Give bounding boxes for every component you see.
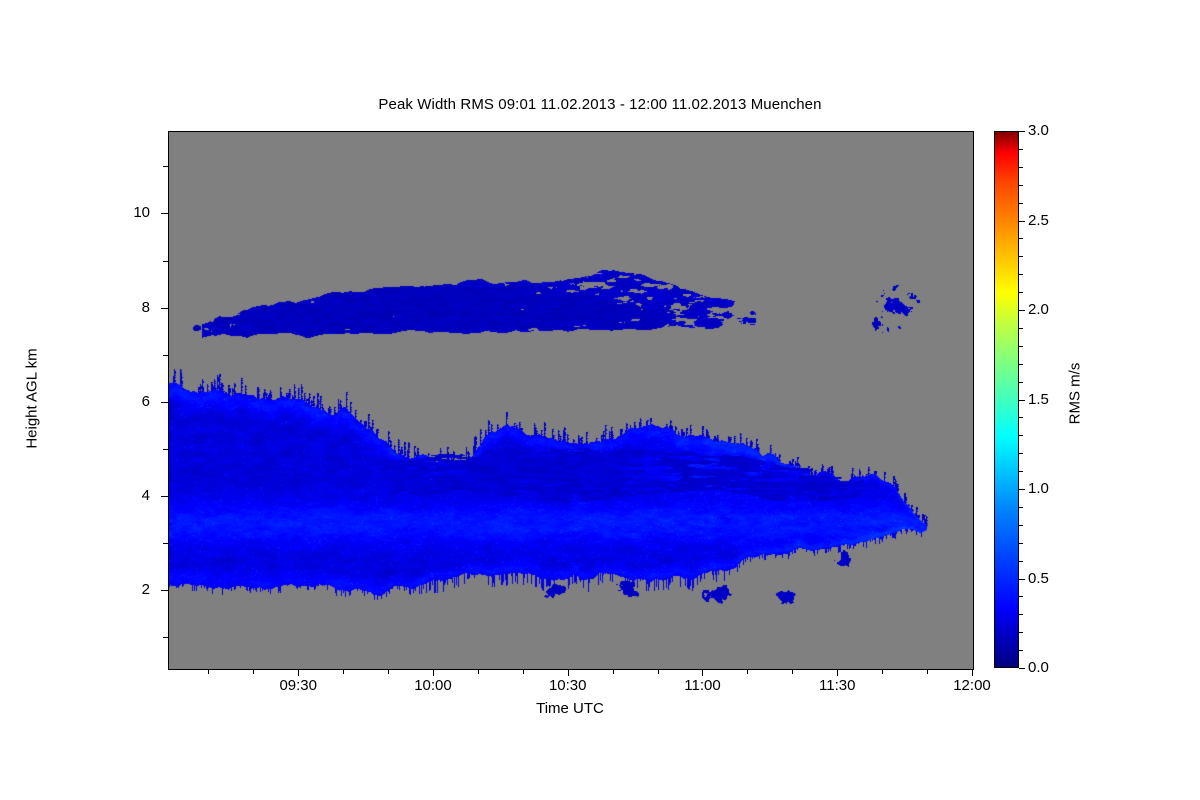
- y-tick: [161, 308, 168, 309]
- colorbar-tick-label: 0.5: [1028, 571, 1049, 586]
- colorbar-tick-minor: [1019, 543, 1023, 544]
- colorbar-tick-minor: [1019, 650, 1023, 651]
- colorbar-tick-label: 2.0: [1028, 302, 1049, 317]
- colorbar-gradient: [994, 131, 1019, 668]
- y-tick-minor: [163, 166, 168, 167]
- colorbar-tick-minor: [1019, 614, 1023, 615]
- x-tick-minor: [792, 669, 793, 674]
- y-tick-label: 4: [96, 488, 150, 503]
- x-tick-label: 11:00: [657, 678, 747, 693]
- x-tick-label: 11:30: [792, 678, 882, 693]
- colorbar-tick-minor: [1019, 525, 1023, 526]
- colorbar-tick-minor: [1019, 185, 1023, 186]
- x-tick-minor: [523, 669, 524, 674]
- y-tick-minor: [163, 449, 168, 450]
- y-tick-minor: [163, 261, 168, 262]
- y-tick-label: 10: [96, 205, 150, 220]
- y-tick-minor: [163, 637, 168, 638]
- colorbar-tick-minor: [1019, 561, 1023, 562]
- heatmap-canvas: [169, 132, 973, 669]
- y-tick-minor: [163, 543, 168, 544]
- x-tick: [972, 669, 973, 676]
- plot-area: [168, 131, 974, 670]
- colorbar-tick-minor: [1019, 435, 1023, 436]
- colorbar-tick-minor: [1019, 256, 1023, 257]
- colorbar-tick: [1019, 579, 1025, 580]
- x-tick: [568, 669, 569, 676]
- x-tick: [837, 669, 838, 676]
- colorbar-tick: [1019, 310, 1025, 311]
- x-tick-minor: [478, 669, 479, 674]
- colorbar-tick: [1019, 131, 1025, 132]
- colorbar-tick-minor: [1019, 203, 1023, 204]
- colorbar: [994, 131, 1019, 668]
- colorbar-tick-minor: [1019, 364, 1023, 365]
- colorbar-tick-minor: [1019, 471, 1023, 472]
- x-tick-minor: [208, 669, 209, 674]
- x-tick-minor: [747, 669, 748, 674]
- y-tick: [161, 496, 168, 497]
- colorbar-tick-minor: [1019, 167, 1023, 168]
- colorbar-tick-minor: [1019, 489, 1023, 490]
- x-axis-label: Time UTC: [168, 700, 972, 717]
- colorbar-tick: [1019, 400, 1025, 401]
- x-tick-minor: [613, 669, 614, 674]
- colorbar-tick-minor: [1019, 417, 1023, 418]
- colorbar-tick-minor: [1019, 328, 1023, 329]
- colorbar-tick-minor: [1019, 238, 1023, 239]
- y-tick: [161, 213, 168, 214]
- colorbar-tick-minor: [1019, 274, 1023, 275]
- x-tick-minor: [658, 669, 659, 674]
- x-tick-label: 12:00: [927, 678, 1017, 693]
- colorbar-tick: [1019, 668, 1025, 669]
- colorbar-label: RMS m/s: [1067, 294, 1084, 494]
- x-tick-label: 10:00: [388, 678, 478, 693]
- colorbar-tick-minor: [1019, 149, 1023, 150]
- colorbar-tick-label: 1.5: [1028, 392, 1049, 407]
- x-tick: [702, 669, 703, 676]
- colorbar-tick-minor: [1019, 292, 1023, 293]
- colorbar-tick-minor: [1019, 507, 1023, 508]
- x-tick-minor: [253, 669, 254, 674]
- lidar-peak-width-rms-figure: Peak Width RMS 09:01 11.02.2013 - 12:00 …: [0, 0, 1200, 800]
- y-tick-label: 6: [96, 394, 150, 409]
- y-tick-label: 8: [96, 300, 150, 315]
- colorbar-tick-minor: [1019, 632, 1023, 633]
- y-axis-label: Height AGL km: [24, 219, 41, 579]
- colorbar-tick: [1019, 221, 1025, 222]
- page-title: Peak Width RMS 09:01 11.02.2013 - 12:00 …: [0, 96, 1200, 113]
- colorbar-tick-label: 2.5: [1028, 213, 1049, 228]
- colorbar-tick-minor: [1019, 453, 1023, 454]
- colorbar-tick-label: 3.0: [1028, 123, 1049, 138]
- x-tick-minor: [927, 669, 928, 674]
- x-tick: [433, 669, 434, 676]
- x-tick-label: 09:30: [253, 678, 343, 693]
- y-tick: [161, 590, 168, 591]
- colorbar-tick-minor: [1019, 596, 1023, 597]
- colorbar-tick-minor: [1019, 346, 1023, 347]
- x-tick-minor: [343, 669, 344, 674]
- x-tick-label: 10:30: [523, 678, 613, 693]
- x-tick-minor: [882, 669, 883, 674]
- colorbar-tick-minor: [1019, 382, 1023, 383]
- y-tick-label: 2: [96, 582, 150, 597]
- x-tick-minor: [388, 669, 389, 674]
- colorbar-tick-label: 0.0: [1028, 660, 1049, 675]
- colorbar-tick-label: 1.0: [1028, 481, 1049, 496]
- y-tick-minor: [163, 355, 168, 356]
- x-tick: [298, 669, 299, 676]
- y-tick: [161, 402, 168, 403]
